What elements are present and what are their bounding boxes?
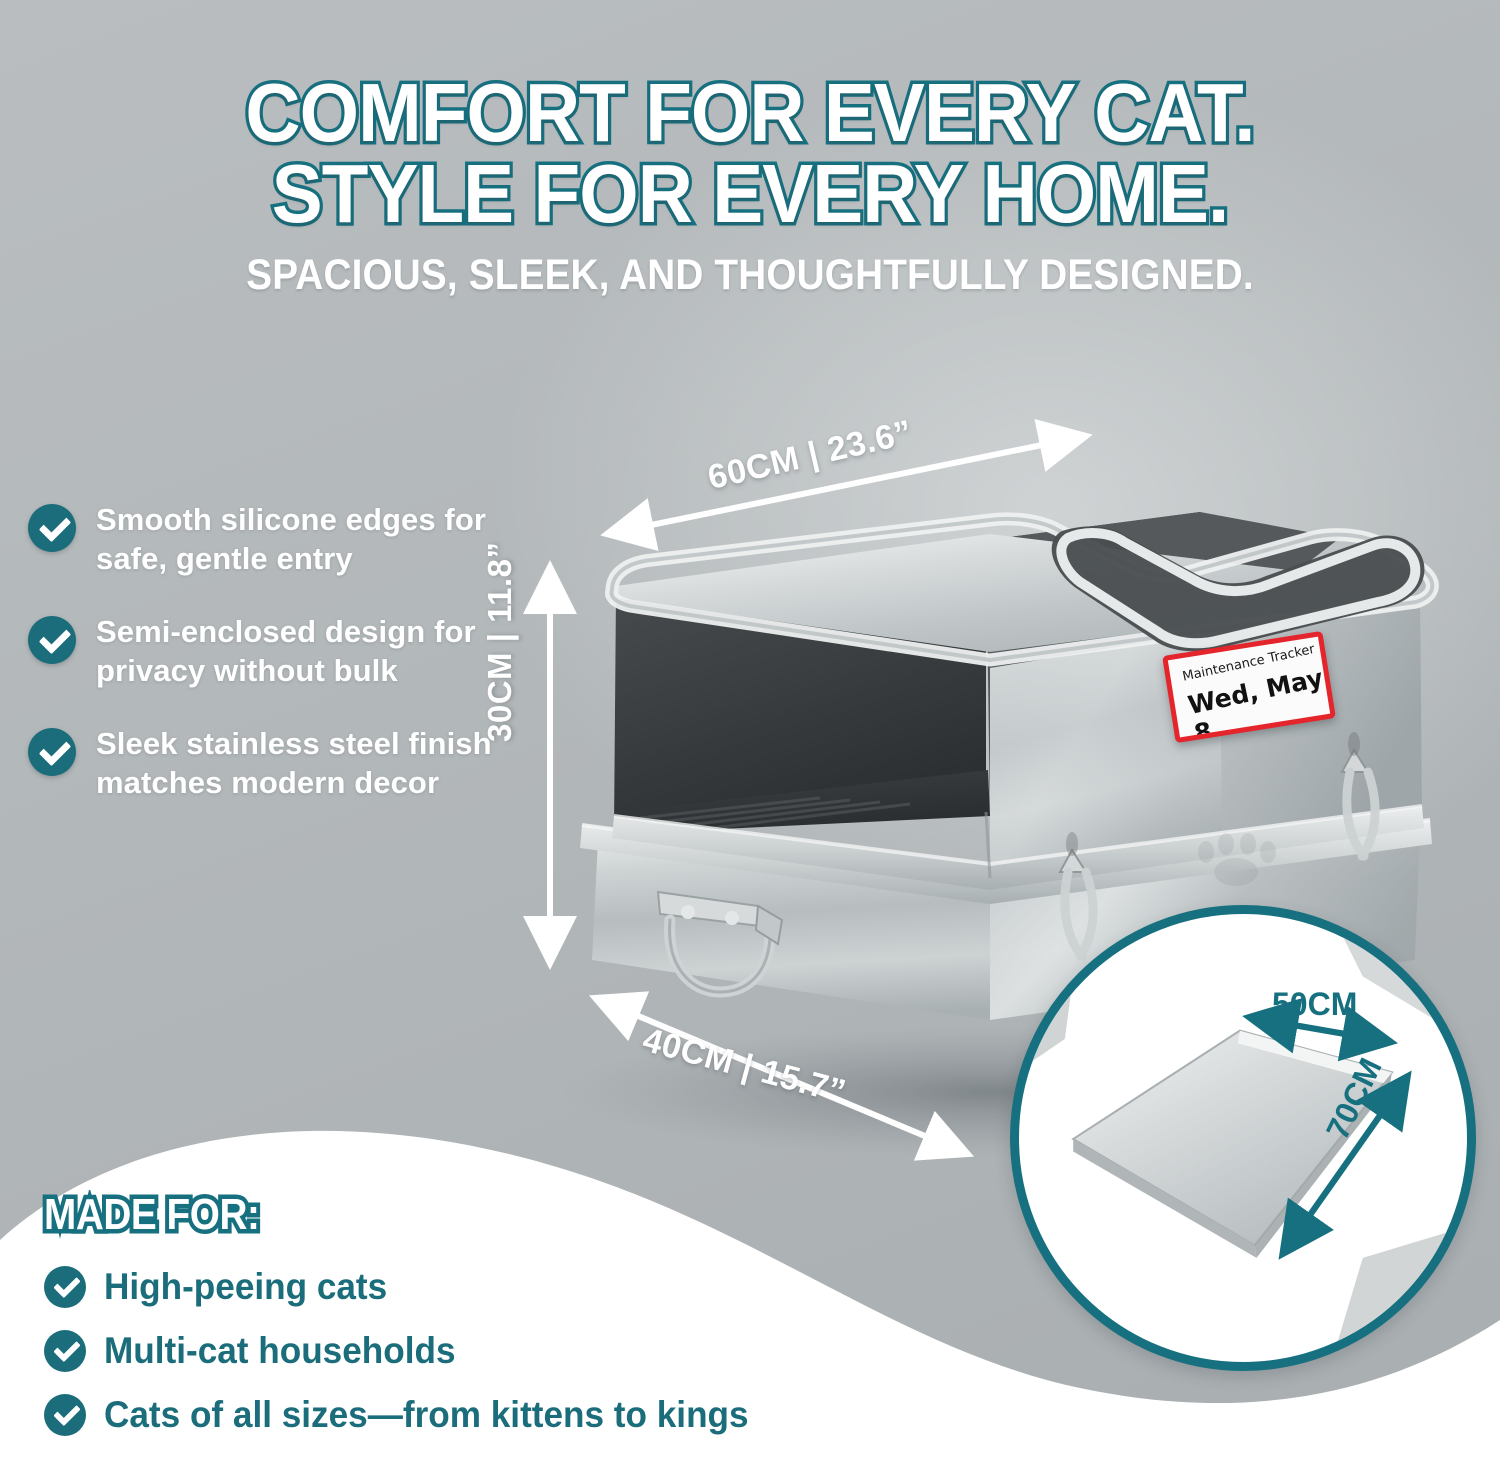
page-title: COMFORT FOR EVERY CAT. STYLE FOR EVERY H… bbox=[60, 72, 1440, 235]
mat-dimension-width: 50CM bbox=[1272, 986, 1357, 1023]
made-for-label: Cats of all sizes—from kittens to kings bbox=[104, 1394, 749, 1436]
feature-item: Sleek stainless steel finish matches mod… bbox=[28, 724, 498, 802]
mat-illustration bbox=[1019, 914, 1467, 1362]
made-for-label: High-peeing cats bbox=[104, 1266, 387, 1308]
check-circle-icon bbox=[44, 1330, 86, 1372]
check-circle-icon bbox=[44, 1266, 86, 1308]
made-for-item: High-peeing cats bbox=[44, 1266, 944, 1308]
headline-block: COMFORT FOR EVERY CAT. STYLE FOR EVERY H… bbox=[0, 72, 1500, 300]
made-for-item: Multi-cat households bbox=[44, 1330, 944, 1372]
made-for-section: MADE FOR: High-peeing cats Multi-cat hou… bbox=[44, 1190, 944, 1436]
made-for-title: MADE FOR: bbox=[44, 1190, 259, 1240]
made-for-label: Multi-cat households bbox=[104, 1330, 456, 1372]
infographic-canvas: COMFORT FOR EVERY CAT. STYLE FOR EVERY H… bbox=[0, 0, 1500, 1460]
headline-line-1: COMFORT FOR EVERY CAT. bbox=[245, 66, 1254, 159]
made-for-item: Cats of all sizes—from kittens to kings bbox=[44, 1394, 944, 1436]
feature-item: Semi-enclosed design for privacy without… bbox=[28, 612, 498, 690]
feature-item: Smooth silicone edges for safe, gentle e… bbox=[28, 500, 498, 578]
check-circle-icon bbox=[28, 616, 76, 664]
check-circle-icon bbox=[28, 504, 76, 552]
feature-label: Semi-enclosed design for privacy without… bbox=[96, 612, 498, 690]
subheadline: SPACIOUS, SLEEK, AND THOUGHTFULLY DESIGN… bbox=[75, 251, 1425, 300]
check-circle-icon bbox=[28, 728, 76, 776]
headline-line-2: STYLE FOR EVERY HOME. bbox=[60, 153, 1440, 234]
inset-circle-mat: 50CM 70CM bbox=[1010, 905, 1476, 1371]
feature-list: Smooth silicone edges for safe, gentle e… bbox=[28, 500, 498, 802]
feature-label: Sleek stainless steel finish matches mod… bbox=[96, 724, 498, 802]
silicone-mat bbox=[1073, 1031, 1392, 1258]
feature-label: Smooth silicone edges for safe, gentle e… bbox=[96, 500, 498, 578]
check-circle-icon bbox=[44, 1394, 86, 1436]
